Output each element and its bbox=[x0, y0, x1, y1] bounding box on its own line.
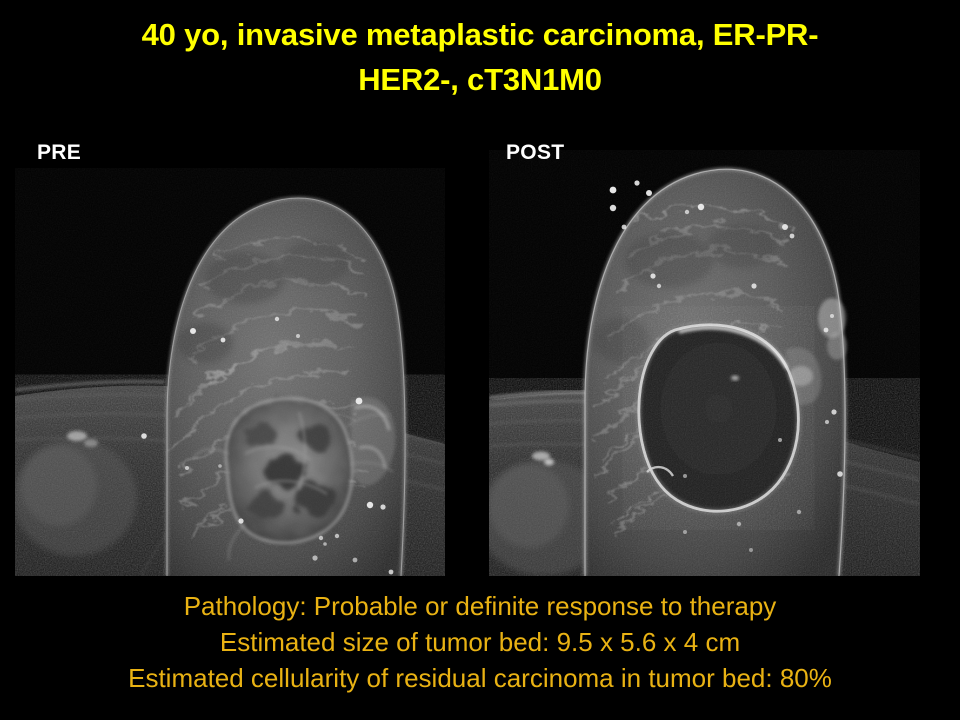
caption-line-tumor-bed-size: Estimated size of tumor bed: 9.5 x 5.6 x… bbox=[0, 624, 960, 660]
mri-post-svg bbox=[489, 150, 920, 576]
caption-line-cellularity: Estimated cellularity of residual carcin… bbox=[0, 660, 960, 696]
mri-image-post bbox=[489, 150, 920, 576]
title-line-1: 40 yo, invasive metaplastic carcinoma, E… bbox=[0, 12, 960, 57]
title-line-2: HER2-, cT3N1M0 bbox=[0, 57, 960, 102]
slide-canvas: 40 yo, invasive metaplastic carcinoma, E… bbox=[0, 0, 960, 720]
mri-pre-svg bbox=[15, 168, 445, 576]
scan-label-post: POST bbox=[506, 141, 564, 165]
caption-line-pathology: Pathology: Probable or definite response… bbox=[0, 588, 960, 624]
page-title: 40 yo, invasive metaplastic carcinoma, E… bbox=[0, 12, 960, 102]
mri-image-pre bbox=[15, 168, 445, 576]
pathology-caption: Pathology: Probable or definite response… bbox=[0, 588, 960, 696]
scan-label-pre: PRE bbox=[37, 141, 81, 165]
